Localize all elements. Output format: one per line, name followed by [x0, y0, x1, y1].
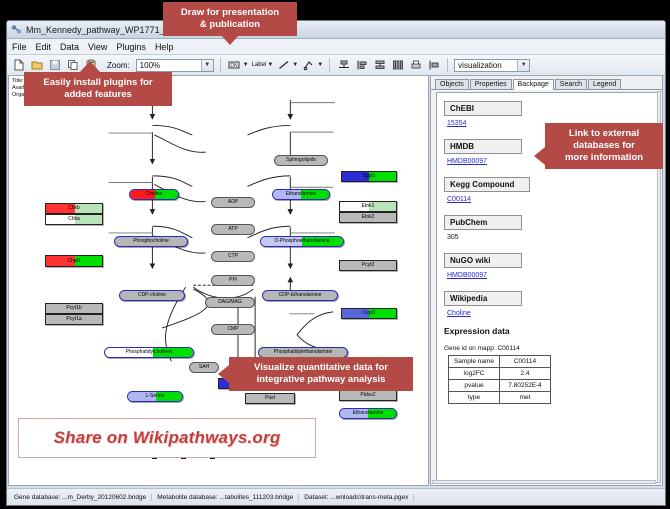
node-label: Phosphatidylethanolamine	[274, 350, 333, 355]
menu-bar: File Edit Data View Plugins Help	[7, 39, 665, 55]
node-label: Sphingolipids	[286, 158, 316, 163]
kegg-link[interactable]: C00114	[447, 196, 651, 203]
node-ethanolamine-right[interactable]: Ethanolamine	[339, 408, 397, 419]
node-ethanolamine-top[interactable]: Ethanolamine	[272, 189, 330, 200]
callout-line-1: Draw for presentation	[171, 7, 289, 19]
row-value: met	[500, 392, 551, 404]
screenshot-root: Mm_Kennedy_pathway_WP1771_45176.gpml Fil…	[0, 0, 670, 509]
section-kegg-compound: Kegg Compound	[444, 177, 530, 192]
node-etnk1[interactable]: Etnk1	[339, 201, 397, 212]
gene-id-label: Gene id on mapp: C00114	[444, 345, 651, 352]
node-label: Chpt1	[67, 259, 80, 264]
callout-arrow-up	[80, 61, 100, 72]
node-label: CDP-Ethanolamine	[279, 293, 322, 298]
node-label: Pcyt1a	[66, 317, 81, 322]
callout-line-2: & publication	[171, 19, 289, 31]
tab-objects[interactable]: Objects	[435, 79, 469, 89]
align-center-icon[interactable]	[336, 58, 351, 73]
callout-line-2: added features	[32, 89, 164, 101]
menu-plugins[interactable]: Plugins	[116, 42, 146, 52]
node-phosphocholine[interactable]: Phosphocholine	[114, 236, 188, 247]
node-pcyt1a[interactable]: Pcyt1a	[45, 314, 103, 325]
node-sgpl1[interactable]: Sgpl1	[341, 171, 397, 182]
chevron-down-icon: ▼	[267, 62, 273, 68]
title-bar: Mm_Kennedy_pathway_WP1771_45176.gpml	[7, 21, 665, 39]
menu-help[interactable]: Help	[155, 42, 174, 52]
expression-table: Sample name C00114 log2FC 2.4 pvalue 7.8…	[448, 355, 551, 404]
expression-data-heading: Expression data	[444, 326, 651, 336]
node-label: ATP	[228, 227, 237, 232]
table-row: type met	[449, 392, 551, 404]
node-label: Ethanolamine	[353, 411, 384, 416]
chevron-down-icon: ▼	[201, 60, 213, 71]
node-label: Etnk1	[362, 204, 375, 209]
callout-arrow-down	[220, 34, 240, 45]
row-key: Sample name	[449, 356, 500, 368]
order-icon[interactable]	[426, 58, 441, 73]
datanode-tool[interactable]: DN ▼	[227, 58, 249, 73]
menu-edit[interactable]: Edit	[36, 42, 52, 52]
tab-properties[interactable]: Properties	[470, 79, 512, 89]
node-label: Pcyt1b	[66, 306, 81, 311]
node-label: Phosphatidylcholines	[126, 350, 173, 355]
row-value: C00114	[500, 356, 551, 368]
callout-draw-presentation: Draw for presentation & publication	[163, 2, 297, 36]
zoom-combo[interactable]: 100% ▼	[136, 59, 214, 72]
callout-line-2: databases for	[553, 140, 655, 152]
node-atp[interactable]: ATP	[211, 224, 255, 235]
callout-install-plugins: Easily install plugins for added feature…	[24, 72, 172, 106]
chevron-down-icon: ▼	[317, 62, 323, 68]
node-chpt1[interactable]: Chpt1	[45, 255, 103, 267]
node-ctp[interactable]: CTP	[211, 251, 255, 262]
callout-line-1: Visualize quantitative data for	[237, 362, 405, 374]
node-label: Chkb	[68, 206, 80, 211]
tab-search[interactable]: Search	[555, 79, 587, 89]
stack-icon[interactable]	[372, 58, 387, 73]
side-panel-tabs: Objects Properties Backpage Search Legen…	[431, 76, 662, 90]
node-label: CTP	[228, 254, 238, 259]
status-metabolite-database: Metabolite database: ...tabolites_111203…	[152, 494, 299, 501]
node-label: Ptdss2	[360, 393, 375, 398]
node-label: DAG/MAG	[218, 300, 242, 305]
node-sphingolipids[interactable]: Sphingolipids	[274, 155, 328, 166]
node-ppi[interactable]: PPi	[211, 275, 255, 286]
node-adp[interactable]: ADP	[211, 197, 255, 208]
row-key: type	[449, 392, 500, 404]
node-cdp-choline[interactable]: CDP-choline	[119, 290, 185, 301]
section-pubchem: PubChem	[444, 215, 522, 230]
node-label: Cept1	[362, 311, 375, 316]
node-label: CDP-choline	[138, 293, 166, 298]
print-icon[interactable]	[408, 58, 423, 73]
node-sah[interactable]: SAH	[189, 362, 219, 373]
node-cept1[interactable]: Cept1	[341, 308, 397, 319]
row-key: log2FC	[449, 368, 500, 380]
node-label: Sgpl1	[363, 174, 376, 179]
node-pcyt1b[interactable]: Pcyt1b	[45, 303, 103, 314]
pathvisio-icon	[11, 24, 22, 35]
node-label: Pcyt2	[362, 263, 375, 268]
shape-tool[interactable]: ▼	[301, 58, 323, 73]
node-chkb[interactable]: Chkb	[45, 203, 103, 214]
node-l-serine-left[interactable]: L-Serine	[127, 391, 183, 402]
callout-line-1: Easily install plugins for	[32, 77, 164, 89]
node-label: Chka	[68, 217, 80, 222]
node-label: Etnk2	[362, 215, 375, 220]
table-row: log2FC 2.4	[449, 368, 551, 380]
node-label: PPi	[229, 278, 237, 283]
callout-visualize-data: Visualize quantitative data for integrat…	[229, 357, 413, 391]
visualization-value: visualization	[458, 61, 502, 70]
node-label: Pisd	[265, 396, 275, 401]
menu-file[interactable]: File	[12, 42, 27, 52]
node-phosphatidylcholines[interactable]: Phosphatidylcholines	[104, 347, 194, 358]
node-label: Choline	[146, 192, 163, 197]
chevron-down-icon: ▼	[517, 60, 529, 71]
node-choline-top[interactable]: Choline	[129, 189, 179, 200]
callout-share-wikipathways: Share on Wikipathways.org	[18, 418, 316, 458]
new-icon[interactable]	[11, 58, 26, 73]
callout-external-links: Link to external databases for more info…	[545, 123, 663, 169]
node-cmp[interactable]: CMP	[211, 324, 255, 335]
label-tool-text: Label	[252, 62, 267, 68]
share-text: Share on Wikipathways.org	[54, 428, 281, 448]
section-chebi: ChEBI	[444, 101, 522, 116]
toolbar-separator	[447, 58, 448, 72]
zoom-value: 100%	[140, 61, 160, 70]
receptor-icon	[301, 58, 316, 73]
status-dataset: Dataset: ...wnloads\trans-meta.pgex	[299, 494, 414, 501]
pubchem-value: 305	[447, 234, 651, 241]
row-value: 2.4	[500, 368, 551, 380]
callout-arrow-left	[534, 147, 545, 165]
chevron-down-icon: ▼	[243, 62, 249, 68]
callout-line-3: more information	[553, 152, 655, 164]
section-hmdb: HMDB	[444, 139, 522, 154]
toolbar-separator	[220, 58, 221, 72]
node-pcyt2[interactable]: Pcyt2	[339, 260, 397, 271]
node-label: Phosphocholine	[133, 239, 169, 244]
node-o-phosphoethanolamine[interactable]: O-Phosphoethanolamine	[260, 236, 344, 247]
callout-arrow-left-visualize	[218, 365, 229, 383]
datanode-icon: DN	[227, 58, 242, 73]
open-icon[interactable]	[29, 58, 44, 73]
nugo-link[interactable]: HMDB00097	[447, 272, 651, 279]
menu-view[interactable]: View	[88, 42, 107, 52]
save-icon[interactable]	[47, 58, 62, 73]
zoom-label: Zoom:	[107, 61, 130, 70]
row-key: pvalue	[449, 380, 500, 392]
table-row: Sample name C00114	[449, 356, 551, 368]
visualization-combo[interactable]: visualization ▼	[454, 59, 530, 72]
svg-text:DN: DN	[231, 63, 239, 69]
label-tool[interactable]: Label ▼	[252, 62, 274, 68]
node-label: SAH	[199, 365, 209, 370]
node-label: ADP	[228, 200, 238, 205]
node-label: Ethanolamine	[286, 192, 317, 197]
chevron-down-icon: ▼	[292, 62, 298, 68]
node-pisd[interactable]: Pisd	[245, 393, 295, 404]
node-etnk2[interactable]: Etnk2	[339, 212, 397, 223]
section-wikipedia: Wikipedia	[444, 291, 522, 306]
row-value: 7.80252E-4	[500, 380, 551, 392]
node-dag-mag[interactable]: DAG/MAG	[205, 297, 255, 308]
tab-backpage[interactable]: Backpage	[513, 79, 554, 90]
toolbar-separator	[329, 58, 330, 72]
node-label: L-Serine	[146, 394, 165, 399]
node-label: CMP	[227, 327, 238, 332]
callout-line-2: integrative pathway analysis	[237, 374, 405, 386]
node-chka[interactable]: Chka	[45, 214, 103, 225]
align-left-icon[interactable]	[354, 58, 369, 73]
panel-horizontal-scrollbar[interactable]	[432, 480, 656, 484]
line-tool[interactable]: ▼	[276, 58, 298, 73]
wikipedia-link[interactable]: Choline	[447, 310, 651, 317]
tab-legend[interactable]: Legend	[588, 79, 621, 89]
menu-data[interactable]: Data	[60, 42, 79, 52]
status-gene-database: Gene database: ...m_Derby_20120602.bridg…	[9, 494, 152, 501]
node-cdp-ethanolamine[interactable]: CDP-Ethanolamine	[262, 290, 338, 301]
distribute-icon[interactable]	[390, 58, 405, 73]
section-nugo-wiki: NuGO wiki	[444, 253, 522, 268]
table-row: pvalue 7.80252E-4	[449, 380, 551, 392]
line-icon	[276, 58, 291, 73]
node-label: O-Phosphoethanolamine	[274, 239, 329, 244]
status-bar: Gene database: ...m_Derby_20120602.bridg…	[7, 488, 665, 505]
copy-icon[interactable]	[65, 58, 80, 73]
node-ptdss2[interactable]: Ptdss2	[339, 390, 397, 401]
callout-line-1: Link to external	[553, 128, 655, 140]
